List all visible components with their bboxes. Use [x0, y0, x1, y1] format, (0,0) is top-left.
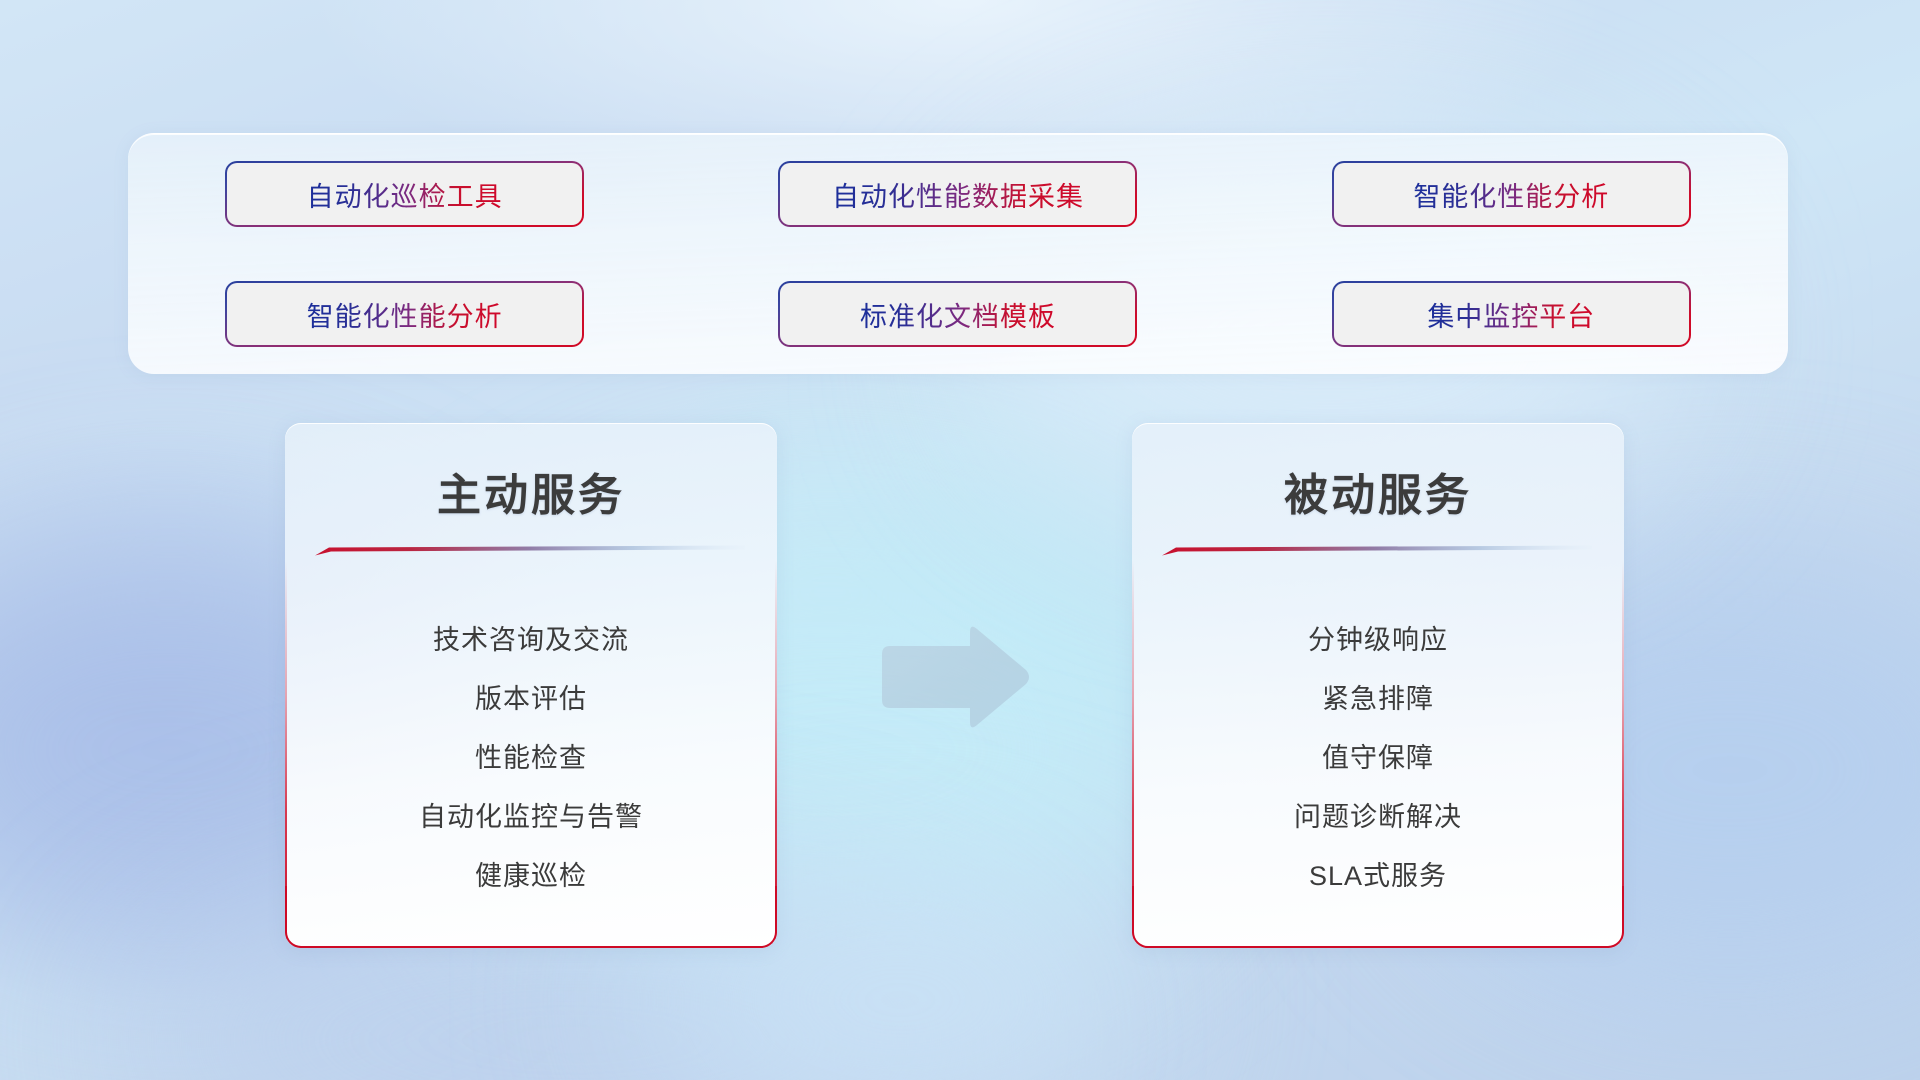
right-arrow-icon	[874, 622, 1034, 732]
capability-pill-standardized-document-template[interactable]: 标准化文档模板	[780, 283, 1135, 345]
capability-pill-label: 智能化性能分析	[1413, 175, 1609, 214]
capability-pill-label: 标准化文档模板	[860, 295, 1056, 334]
active-service-card[interactable]: 主动服务 技术咨询及交流 版本评估 性能检查 自动化监控与告警 健康巡检	[285, 423, 777, 948]
capability-pill-intelligent-performance-analysis-top[interactable]: 智能化性能分析	[1334, 163, 1689, 225]
active-service-title: 主动服务	[285, 459, 777, 523]
passive-service-card[interactable]: 被动服务 分钟级响应 紧急排障 值守保障 问题诊断解决 SLA式服务	[1132, 423, 1624, 948]
slide-canvas: 自动化巡检工具 自动化性能数据采集 智能化性能分析 智能化性能分析 标准化文档模…	[0, 0, 1920, 1080]
list-item: 性能检查	[285, 729, 777, 788]
capability-pill-label: 自动化性能数据采集	[832, 175, 1084, 214]
capability-pill-intelligent-performance-analysis-bottom[interactable]: 智能化性能分析	[227, 283, 582, 345]
list-item: 紧急排障	[1132, 670, 1624, 729]
list-item: SLA式服务	[1132, 847, 1624, 906]
capability-pill-label: 智能化性能分析	[307, 295, 503, 334]
capability-pill-centralized-monitoring-platform[interactable]: 集中监控平台	[1334, 283, 1689, 345]
active-service-item-list: 技术咨询及交流 版本评估 性能检查 自动化监控与告警 健康巡检	[285, 611, 777, 906]
capability-pill-label: 集中监控平台	[1427, 295, 1595, 334]
active-card-rule-icon	[315, 545, 745, 556]
capability-pill-label: 自动化巡检工具	[307, 175, 503, 214]
list-item: 技术咨询及交流	[285, 611, 777, 670]
list-item: 版本评估	[285, 670, 777, 729]
capability-pill-automation-inspection-tool[interactable]: 自动化巡检工具	[227, 163, 582, 225]
passive-service-title: 被动服务	[1132, 459, 1624, 523]
capability-pill-grid: 自动化巡检工具 自动化性能数据采集 智能化性能分析 智能化性能分析 标准化文档模…	[128, 134, 1788, 374]
capability-panel: 自动化巡检工具 自动化性能数据采集 智能化性能分析 智能化性能分析 标准化文档模…	[128, 133, 1788, 374]
passive-service-item-list: 分钟级响应 紧急排障 值守保障 问题诊断解决 SLA式服务	[1132, 611, 1624, 906]
list-item: 分钟级响应	[1132, 611, 1624, 670]
list-item: 自动化监控与告警	[285, 788, 777, 847]
passive-card-rule-icon	[1162, 545, 1592, 556]
capability-pill-automated-performance-data-collection[interactable]: 自动化性能数据采集	[780, 163, 1135, 225]
list-item: 问题诊断解决	[1132, 788, 1624, 847]
list-item: 健康巡检	[285, 847, 777, 906]
list-item: 值守保障	[1132, 729, 1624, 788]
